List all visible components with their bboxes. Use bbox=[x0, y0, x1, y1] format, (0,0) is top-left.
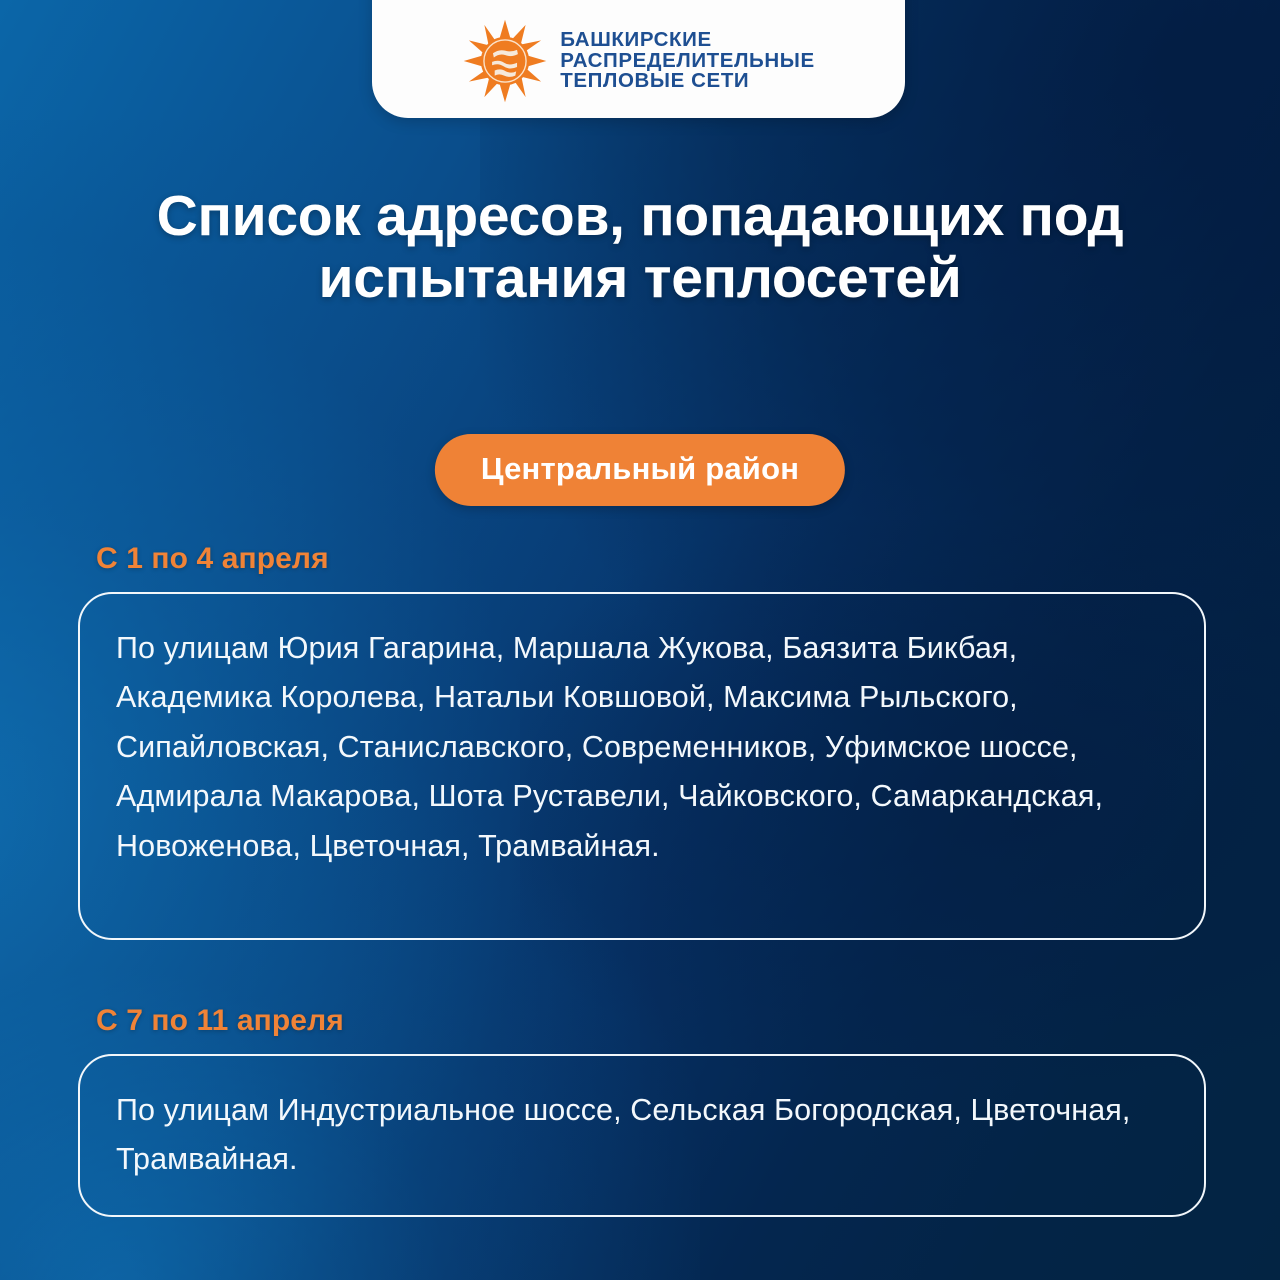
period-block-1: С 1 по 4 апреля По улицам Юрия Гагарина,… bbox=[78, 542, 1206, 940]
period-1-address-box: По улицам Юрия Гагарина, Маршала Жукова,… bbox=[78, 592, 1206, 940]
period-2-address-text: По улицам Индустриальное шоссе, Сельская… bbox=[116, 1086, 1170, 1185]
poster-root: БАШКИРСКИЕ РАСПРЕДЕЛИТЕЛЬНЫЕ ТЕПЛОВЫЕ СЕ… bbox=[0, 0, 1280, 1280]
logo-card: БАШКИРСКИЕ РАСПРЕДЕЛИТЕЛЬНЫЕ ТЕПЛОВЫЕ СЕ… bbox=[372, 0, 905, 118]
logo: БАШКИРСКИЕ РАСПРЕДЕЛИТЕЛЬНЫЕ ТЕПЛОВЫЕ СЕ… bbox=[462, 18, 815, 110]
logo-line-1: БАШКИРСКИЕ bbox=[560, 30, 815, 51]
district-badge: Центральный район bbox=[435, 434, 845, 506]
period-1-label: С 1 по 4 апреля bbox=[96, 542, 1206, 576]
sun-globe-logo-icon bbox=[462, 18, 548, 104]
logo-wordmark: БАШКИРСКИЕ РАСПРЕДЕЛИТЕЛЬНЫЕ ТЕПЛОВЫЕ СЕ… bbox=[560, 30, 815, 93]
period-block-2: С 7 по 11 апреля По улицам Индустриально… bbox=[78, 1004, 1206, 1217]
logo-line-3: ТЕПЛОВЫЕ СЕТИ bbox=[560, 71, 815, 92]
page-title: Список адресов, попадающих под испытания… bbox=[0, 186, 1280, 309]
logo-line-2: РАСПРЕДЕЛИТЕЛЬНЫЕ bbox=[560, 51, 815, 72]
period-1-address-text: По улицам Юрия Гагарина, Маршала Жукова,… bbox=[116, 624, 1170, 871]
period-2-address-box: По улицам Индустриальное шоссе, Сельская… bbox=[78, 1054, 1206, 1217]
period-2-label: С 7 по 11 апреля bbox=[96, 1004, 1206, 1038]
